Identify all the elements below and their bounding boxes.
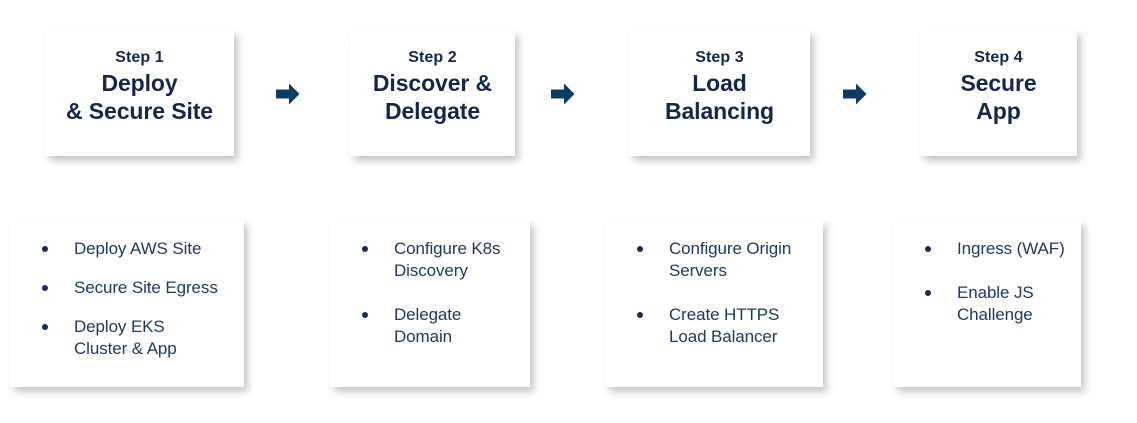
list-item[interactable]: Delegate Domain bbox=[340, 304, 520, 348]
bullet-dot-icon bbox=[637, 312, 643, 318]
bullet-card-3[interactable]: Configure Origin Servers Create HTTPS Lo… bbox=[605, 220, 823, 387]
list-item[interactable]: Create HTTPS Load Balancer bbox=[615, 304, 813, 348]
step-card-3[interactable]: Step 3 Load Balancing bbox=[629, 30, 810, 156]
diagram-canvas: Step 1 Deploy & Secure Site Deploy AWS S… bbox=[0, 0, 1137, 423]
bullet-card-1[interactable]: Deploy AWS Site Secure Site Egress Deplo… bbox=[10, 220, 244, 387]
step-title-1: Deploy & Secure Site bbox=[66, 69, 213, 125]
list-item[interactable]: Configure Origin Servers bbox=[615, 238, 813, 282]
bullet-dot-icon bbox=[362, 312, 368, 318]
step-card-1[interactable]: Step 1 Deploy & Secure Site bbox=[45, 30, 234, 156]
step-title-4: Secure App bbox=[960, 69, 1036, 125]
bullet-text: Configure Origin Servers bbox=[669, 238, 791, 282]
bullet-dot-icon bbox=[925, 246, 931, 252]
step-title-3: Load Balancing bbox=[665, 69, 774, 125]
bullet-text: Deploy EKS Cluster & App bbox=[74, 316, 177, 360]
bullet-list-1: Deploy AWS Site Secure Site Egress Deplo… bbox=[20, 238, 234, 360]
step-label-4: Step 4 bbox=[974, 48, 1023, 68]
step-label-1: Step 1 bbox=[115, 48, 164, 68]
step-label-2: Step 2 bbox=[408, 48, 457, 68]
step-card-4[interactable]: Step 4 Secure App bbox=[920, 30, 1077, 156]
bullet-text: Enable JS Challenge bbox=[957, 282, 1034, 326]
arrow-step1-to-step2 bbox=[276, 82, 300, 106]
arrow-step3-to-step4 bbox=[843, 82, 867, 106]
bullet-dot-icon bbox=[637, 246, 643, 252]
bullet-list-3: Configure Origin Servers Create HTTPS Lo… bbox=[615, 238, 813, 348]
step-label-3: Step 3 bbox=[695, 48, 744, 68]
bullet-card-2[interactable]: Configure K8s Discovery Delegate Domain bbox=[330, 220, 530, 387]
bullet-dot-icon bbox=[42, 285, 48, 291]
bullet-card-4[interactable]: Ingress (WAF) Enable JS Challenge bbox=[893, 220, 1081, 387]
bullet-dot-icon bbox=[362, 246, 368, 252]
bullet-dot-icon bbox=[925, 290, 931, 296]
step-card-2[interactable]: Step 2 Discover & Delegate bbox=[350, 30, 515, 156]
bullet-text: Configure K8s Discovery bbox=[394, 238, 500, 282]
bullet-text: Secure Site Egress bbox=[74, 277, 218, 299]
list-item[interactable]: Deploy EKS Cluster & App bbox=[20, 316, 234, 360]
list-item[interactable]: Deploy AWS Site bbox=[20, 238, 234, 260]
list-item[interactable]: Secure Site Egress bbox=[20, 277, 234, 299]
bullet-list-2: Configure K8s Discovery Delegate Domain bbox=[340, 238, 520, 348]
bullet-dot-icon bbox=[42, 324, 48, 330]
bullet-text: Delegate Domain bbox=[394, 304, 461, 348]
step-title-2: Discover & Delegate bbox=[373, 69, 492, 125]
arrow-step2-to-step3 bbox=[551, 82, 575, 106]
list-item[interactable]: Ingress (WAF) bbox=[903, 238, 1071, 260]
list-item[interactable]: Enable JS Challenge bbox=[903, 282, 1071, 326]
bullet-text: Deploy AWS Site bbox=[74, 238, 201, 260]
list-item[interactable]: Configure K8s Discovery bbox=[340, 238, 520, 282]
bullet-list-4: Ingress (WAF) Enable JS Challenge bbox=[903, 238, 1071, 326]
bullet-text: Ingress (WAF) bbox=[957, 238, 1065, 260]
bullet-text: Create HTTPS Load Balancer bbox=[669, 304, 779, 348]
bullet-dot-icon bbox=[42, 246, 48, 252]
